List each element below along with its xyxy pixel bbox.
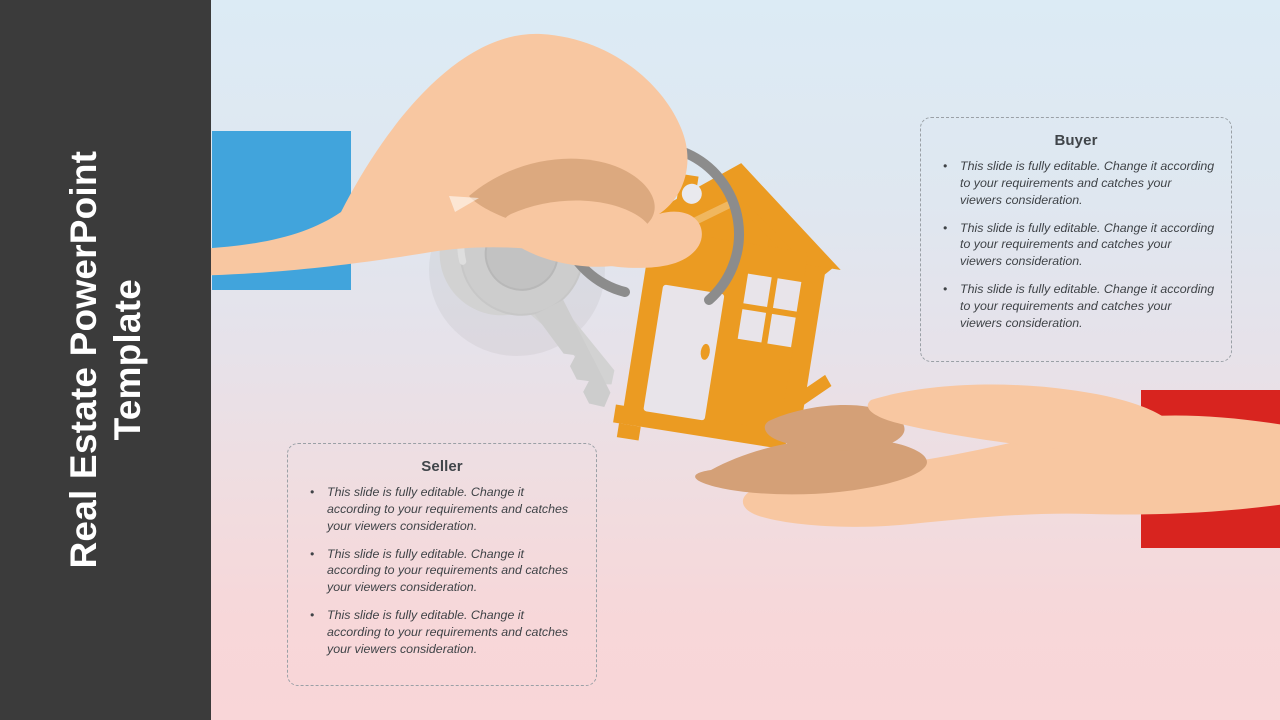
bullet-icon: • bbox=[310, 607, 314, 623]
red-accent-block bbox=[1141, 390, 1280, 548]
list-item: • This slide is fully editable. Change i… bbox=[304, 607, 580, 658]
page-title-line-2: Template bbox=[106, 151, 150, 569]
list-item-text: This slide is fully editable. Change it … bbox=[960, 221, 1214, 269]
list-item: • This slide is fully editable. Change i… bbox=[937, 220, 1215, 271]
buyer-info-box[interactable]: Buyer • This slide is fully editable. Ch… bbox=[920, 117, 1232, 362]
list-item: • This slide is fully editable. Change i… bbox=[937, 281, 1215, 332]
list-item: • This slide is fully editable. Change i… bbox=[304, 484, 580, 535]
buyer-bullet-list: • This slide is fully editable. Change i… bbox=[937, 158, 1215, 332]
bullet-icon: • bbox=[310, 546, 314, 562]
buyer-box-title: Buyer bbox=[937, 132, 1215, 149]
seller-bullet-list: • This slide is fully editable. Change i… bbox=[304, 484, 580, 658]
list-item-text: This slide is fully editable. Change it … bbox=[327, 547, 568, 595]
list-item-text: This slide is fully editable. Change it … bbox=[327, 608, 568, 656]
seller-box-title: Seller bbox=[304, 458, 580, 475]
list-item-text: This slide is fully editable. Change it … bbox=[960, 159, 1214, 207]
seller-info-box[interactable]: Seller • This slide is fully editable. C… bbox=[287, 443, 597, 686]
list-item: • This slide is fully editable. Change i… bbox=[304, 546, 580, 597]
bullet-icon: • bbox=[943, 220, 947, 236]
list-item: • This slide is fully editable. Change i… bbox=[937, 158, 1215, 209]
list-item-text: This slide is fully editable. Change it … bbox=[960, 282, 1214, 330]
blue-accent-block bbox=[212, 131, 351, 290]
slide-canvas: Real Estate PowerPoint Template Buyer • … bbox=[0, 0, 1280, 720]
page-title-line-1: Real Estate PowerPoint bbox=[62, 151, 106, 569]
title-sidebar: Real Estate PowerPoint Template bbox=[0, 0, 211, 720]
bullet-icon: • bbox=[943, 281, 947, 297]
list-item-text: This slide is fully editable. Change it … bbox=[327, 485, 568, 533]
page-title: Real Estate PowerPoint Template bbox=[62, 151, 149, 569]
bullet-icon: • bbox=[310, 484, 314, 500]
bullet-icon: • bbox=[943, 158, 947, 174]
